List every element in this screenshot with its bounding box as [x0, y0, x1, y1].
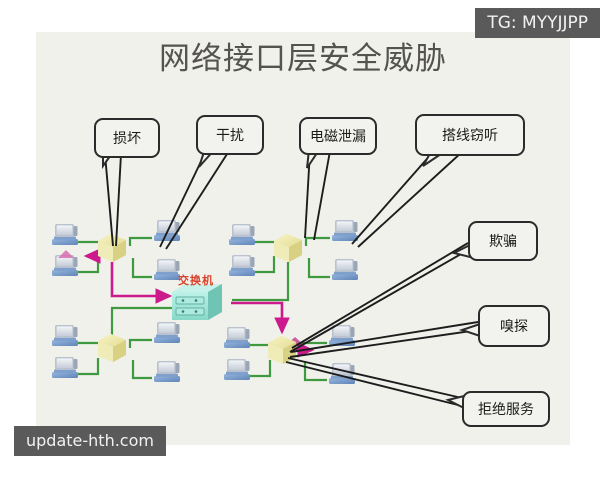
threat-label-sniffing[interactable]: 嗅探 [478, 305, 550, 347]
slide-canvas: 网络接口层安全威胁 [0, 0, 600, 480]
threat-label-spoofing[interactable]: 欺骗 [468, 221, 538, 261]
threat-label-wiretap[interactable]: 搭线窃听 [415, 114, 525, 156]
threat-label-interference[interactable]: 干扰 [196, 115, 264, 155]
threat-label-emi-leak[interactable]: 电磁泄漏 [299, 117, 377, 155]
threat-label-damage[interactable]: 损坏 [94, 118, 160, 158]
threat-label-dos[interactable]: 拒绝服务 [462, 391, 550, 427]
